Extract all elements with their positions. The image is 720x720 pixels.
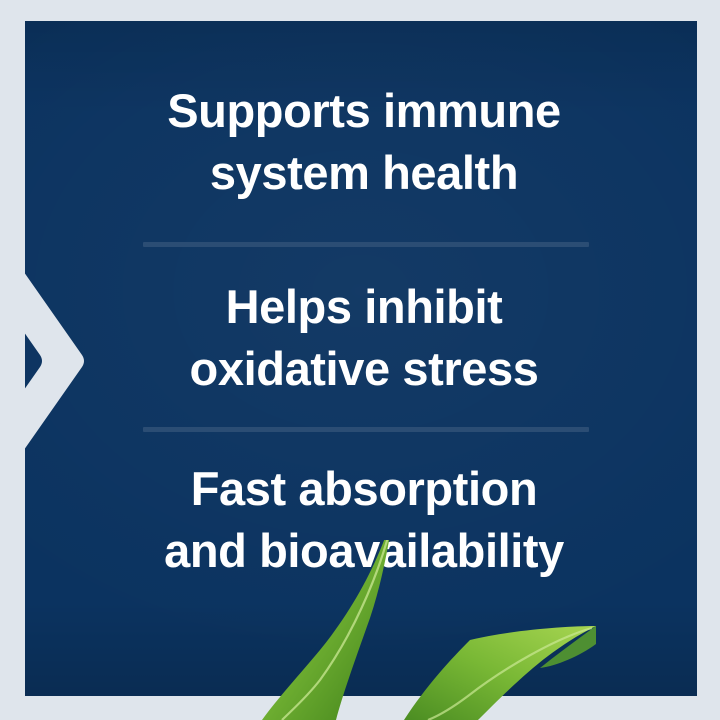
benefit-line: system health (96, 142, 632, 204)
chevron-right-icon (0, 255, 84, 467)
benefits-list: Supports immune system health Helps inhi… (0, 0, 720, 720)
benefit-item-immune: Supports immune system health (96, 80, 632, 204)
benefit-line: Supports immune (96, 80, 632, 142)
benefit-item-oxidative: Helps inhibit oxidative stress (96, 276, 632, 400)
benefit-divider (143, 427, 589, 432)
promo-card: Supports immune system health Helps inhi… (0, 0, 720, 720)
benefit-line: Helps inhibit (96, 276, 632, 338)
benefit-divider (143, 242, 589, 247)
benefit-item-absorption: Fast absorption and bioavailability (96, 458, 632, 582)
benefit-line: oxidative stress (96, 338, 632, 400)
benefit-line: Fast absorption (96, 458, 632, 520)
benefit-line: and bioavailability (96, 520, 632, 582)
